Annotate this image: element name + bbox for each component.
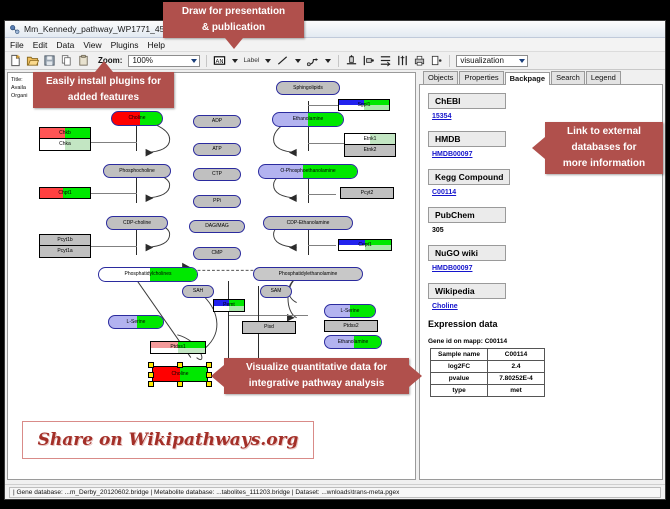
node-label: Phosphocholine	[119, 169, 155, 174]
node-label: SAH	[193, 289, 203, 294]
callout-plugins: Easily install plugins for added feature…	[33, 72, 174, 108]
callout-arrow-left-icon	[211, 365, 224, 387]
node-etnk1[interactable]: Etnk1	[344, 133, 396, 145]
node-chka[interactable]: Chka	[39, 139, 91, 151]
line-dropdown-icon[interactable]	[293, 55, 302, 67]
chevron-down-icon	[191, 59, 197, 63]
node-choline-top[interactable]: Choline	[111, 111, 163, 126]
node-ctp[interactable]: CTP	[193, 168, 241, 181]
node-label: Etnk1	[364, 137, 377, 142]
save-file-icon[interactable]	[43, 54, 56, 67]
node-sam[interactable]: SAM	[260, 285, 292, 298]
expression-table: Sample name C00114 log2FC 2.4 pvalue 7.8…	[430, 348, 545, 397]
selection-handle[interactable]	[177, 381, 183, 387]
node-cdp-ethanolamine[interactable]: CDP-Ethanolamine	[263, 216, 353, 230]
share-banner-text: Share on Wikipathways.org	[38, 430, 299, 450]
node-label: SAM	[271, 289, 282, 294]
node-label: Chkb	[59, 131, 71, 136]
node-pcyt1a[interactable]: Pcyt1a	[39, 246, 91, 258]
node-pcyt2[interactable]: Pcyt2	[340, 187, 394, 199]
node-label: ATP	[212, 147, 221, 152]
node-ptdss2[interactable]: Ptdss2	[324, 320, 378, 332]
edge-chk-to-reaction	[91, 142, 137, 143]
node-phosphatidylcholines[interactable]: Phosphatidylcholines	[98, 267, 198, 282]
edge-cept1-to-reaction	[308, 245, 336, 246]
selection-handle[interactable]	[148, 381, 154, 387]
cell-key: Sample name	[431, 349, 488, 361]
node-label: Ptdss2	[343, 324, 358, 329]
callout-draw-line2: & publication	[163, 22, 304, 38]
db-link-nugo[interactable]: HMDB00097	[432, 265, 662, 272]
selection-handle[interactable]	[148, 372, 154, 378]
callout-visualize-line2: integrative pathway analysis	[224, 378, 409, 394]
screenshot-root: Mm_Kennedy_pathway_WP1771_45176.gpml Fil…	[0, 0, 670, 509]
node-label: Ptdss1	[170, 345, 185, 350]
node-label: Phosphatidylcholines	[125, 272, 172, 277]
callout-plugins-line2: added features	[33, 92, 174, 108]
db-value-pubchem: 305	[432, 227, 662, 234]
open-file-icon[interactable]	[26, 54, 39, 67]
node-label: CDP-choline	[123, 221, 151, 226]
side-panel-tabs: Objects Properties Backpage Search Legen…	[419, 72, 663, 85]
stack-horizontal-tool-icon[interactable]	[396, 54, 409, 67]
node-choline-selected[interactable]: Choline	[152, 366, 208, 382]
menu-item-file[interactable]: File	[10, 40, 24, 50]
node-chkb[interactable]: Chkb	[39, 127, 91, 139]
node-pisd[interactable]: Pisd	[242, 321, 296, 334]
callout-arrow-up-icon	[95, 61, 113, 72]
cell-value: met	[488, 385, 545, 397]
tab-backpage[interactable]: Backpage	[505, 72, 550, 85]
db-header-pubchem: PubChem	[428, 207, 506, 223]
node-phosphatidylethanolamine[interactable]: Phosphatidylethanolamine	[253, 267, 363, 281]
node-adp[interactable]: ADP	[193, 115, 241, 128]
expression-data-heading: Expression data	[428, 319, 662, 329]
pathway-canvas[interactable]: Title: Availa Organi	[7, 72, 416, 480]
print-icon[interactable]	[413, 54, 426, 67]
callout-links-line3: more information	[545, 158, 663, 174]
line-tool-icon[interactable]	[276, 54, 289, 67]
pathvisio-app-icon	[9, 24, 20, 35]
edge-chpt1-to-reaction	[91, 193, 137, 194]
cell-value: C00114	[488, 349, 545, 361]
status-text: | Gene database: ...m_Derby_20120602.bri…	[13, 489, 399, 496]
edge-pisd-line	[228, 315, 308, 316]
node-pemt[interactable]: Pemt	[213, 299, 245, 312]
db-header-kegg: Kegg Compound	[428, 169, 510, 185]
align-left-tool-icon[interactable]	[362, 54, 375, 67]
menu-item-help[interactable]: Help	[148, 40, 165, 50]
callout-visualize: Visualize quantitative data for integrat…	[224, 358, 409, 394]
node-label: ADP	[212, 119, 222, 124]
interaction-tool-icon[interactable]	[306, 54, 319, 67]
callout-arrow-down-icon	[225, 38, 243, 49]
label-tool-label[interactable]: Label	[243, 57, 259, 64]
cell-value: 7.80252E-4	[488, 373, 545, 385]
db-header-chebi: ChEBI	[428, 93, 506, 109]
tab-properties[interactable]: Properties	[459, 71, 503, 84]
db-header-nugo: NuGO wiki	[428, 245, 506, 261]
table-row: pvalue 7.80252E-4	[431, 373, 545, 385]
edge-sgpl1-to-reaction	[308, 105, 338, 106]
node-label: Ethanolamine	[338, 340, 369, 345]
new-file-icon[interactable]	[9, 54, 22, 67]
node-label: Pcyt1a	[57, 249, 72, 254]
node-phosphocholine[interactable]: Phosphocholine	[103, 164, 171, 178]
node-label: PPi	[213, 199, 221, 204]
db-link-chebi[interactable]: 15354	[432, 113, 662, 120]
zoom-value: 100%	[132, 56, 152, 65]
cell-key: log2FC	[431, 361, 488, 373]
node-label: DAG/MAG	[205, 224, 229, 229]
node-label: Pisd	[264, 325, 274, 330]
node-ptdss1[interactable]: Ptdss1	[150, 341, 206, 354]
node-label: Phosphatidylethanolamine	[279, 272, 338, 277]
callout-draw-line1: Draw for presentation	[163, 2, 304, 22]
align-top-tool-icon[interactable]	[345, 54, 358, 67]
menu-item-edit[interactable]: Edit	[33, 40, 48, 50]
selection-handle[interactable]	[177, 362, 183, 368]
label-dropdown-icon[interactable]	[263, 55, 272, 67]
edge-pcyt1-to-reaction	[91, 246, 137, 247]
datanode-tool-icon[interactable]: AN	[213, 54, 226, 67]
edge-etnk-to-reaction	[308, 143, 348, 144]
selection-handle[interactable]	[148, 362, 154, 368]
export-icon[interactable]	[430, 54, 443, 67]
visualization-value: visualization	[460, 56, 504, 65]
menu-item-plugins[interactable]: Plugins	[111, 40, 139, 50]
node-label: L-Serine	[127, 320, 146, 325]
canvas-info-organism: Organi	[11, 93, 28, 100]
node-label: Pcyt1b	[57, 238, 72, 243]
tab-objects[interactable]: Objects	[423, 71, 458, 84]
svg-text:AN: AN	[216, 59, 224, 65]
callout-arrow-left-icon	[532, 137, 545, 159]
node-label: Ethanolamine	[293, 117, 324, 122]
zoom-combobox[interactable]: 100%	[128, 55, 200, 67]
node-ethanolamine-top[interactable]: Ethanolamine	[272, 112, 344, 127]
cell-key: pvalue	[431, 373, 488, 385]
title-bar: Mm_Kennedy_pathway_WP1771_45176.gpml	[5, 21, 665, 38]
cell-value: 2.4	[488, 361, 545, 373]
callout-plugins-line1: Easily install plugins for	[33, 72, 174, 92]
interaction-dropdown-icon[interactable]	[323, 55, 332, 67]
toolbar-separator	[449, 55, 450, 67]
menu-item-view[interactable]: View	[83, 40, 101, 50]
node-pcyt1b[interactable]: Pcyt1b	[39, 234, 91, 246]
node-sphingolipids[interactable]: Sphingolipids	[276, 81, 340, 95]
node-label: Choline	[129, 116, 146, 121]
db-header-hmdb: HMDB	[428, 131, 506, 147]
visualization-combobox[interactable]: visualization	[456, 55, 528, 67]
node-label: CMP	[211, 251, 222, 256]
node-etnk2[interactable]: Etnk2	[344, 145, 396, 157]
menu-item-data[interactable]: Data	[56, 40, 74, 50]
callout-links-line2: databases for	[545, 142, 663, 158]
node-ethanolamine-bottom[interactable]: Ethanolamine	[324, 335, 382, 349]
tab-legend[interactable]: Legend	[586, 71, 621, 84]
gene-id-on-mapp: Gene id on mapp: C00114	[428, 338, 662, 345]
share-banner: Share on Wikipathways.org	[22, 421, 314, 459]
node-label: CTP	[212, 172, 222, 177]
callout-arrow-right-icon	[409, 365, 422, 387]
node-label: Choline	[172, 372, 189, 377]
table-row: log2FC 2.4	[431, 361, 545, 373]
node-sah[interactable]: SAH	[182, 285, 214, 298]
chevron-down-icon	[519, 59, 525, 63]
node-label: Chpt1	[58, 191, 71, 196]
node-label: Chka	[59, 142, 71, 147]
node-l-serine-left[interactable]: L-Serine	[108, 315, 164, 329]
toolbar-separator	[338, 55, 339, 67]
node-cdp-choline[interactable]: CDP-choline	[106, 216, 168, 230]
callout-draw: Draw for presentation & publication	[163, 2, 304, 38]
edge-pcyt2-to-reaction	[308, 194, 336, 195]
db-link-kegg[interactable]: C00114	[432, 189, 662, 196]
node-chpt1[interactable]: Chpt1	[39, 187, 91, 199]
stack-vertical-tool-icon[interactable]	[379, 54, 392, 67]
datanode-dropdown-icon[interactable]	[230, 55, 239, 67]
menu-bar: File Edit Data View Plugins Help	[5, 38, 665, 52]
node-sgpl1[interactable]: Sgpl1	[338, 99, 390, 111]
node-label: L-Serine	[341, 309, 360, 314]
toolbar-separator	[206, 55, 207, 67]
node-label: Sgpl1	[358, 103, 371, 108]
node-l-serine-right[interactable]: L-Serine	[324, 304, 376, 318]
cell-key: type	[431, 385, 488, 397]
db-link-wikipedia[interactable]: Choline	[432, 303, 662, 310]
status-bar: | Gene database: ...m_Derby_20120602.bri…	[5, 484, 665, 499]
node-atp[interactable]: ATP	[193, 143, 241, 156]
db-header-wikipedia: Wikipedia	[428, 283, 506, 299]
tab-search[interactable]: Search	[551, 71, 585, 84]
node-label: CDP-Ethanolamine	[287, 221, 330, 226]
node-label: Cept1	[358, 243, 371, 248]
node-dagmag[interactable]: DAG/MAG	[189, 220, 245, 233]
paste-icon[interactable]	[77, 54, 90, 67]
node-o-phosphoethanolamine[interactable]: O-Phosphoethanolamine	[258, 164, 358, 179]
node-ppi[interactable]: PPi	[193, 195, 241, 208]
node-label: Pcyt2	[361, 191, 374, 196]
node-label: Etnk2	[364, 148, 377, 153]
node-cmp[interactable]: CMP	[193, 247, 241, 260]
node-label: O-Phosphoethanolamine	[280, 169, 335, 174]
callout-links: Link to external databases for more info…	[545, 122, 663, 174]
node-label: Sphingolipids	[293, 86, 323, 91]
table-row: type met	[431, 385, 545, 397]
table-row: Sample name C00114	[431, 349, 545, 361]
callout-links-line1: Link to external	[545, 122, 663, 142]
canvas-info-title: Title:	[11, 77, 23, 84]
node-cept1[interactable]: Cept1	[338, 239, 392, 251]
status-bar-inner: | Gene database: ...m_Derby_20120602.bri…	[9, 487, 661, 498]
callout-visualize-line1: Visualize quantitative data for	[224, 358, 409, 378]
canvas-info-available: Availa	[11, 85, 26, 92]
copy-icon[interactable]	[60, 54, 73, 67]
node-label: Pemt	[223, 303, 235, 308]
